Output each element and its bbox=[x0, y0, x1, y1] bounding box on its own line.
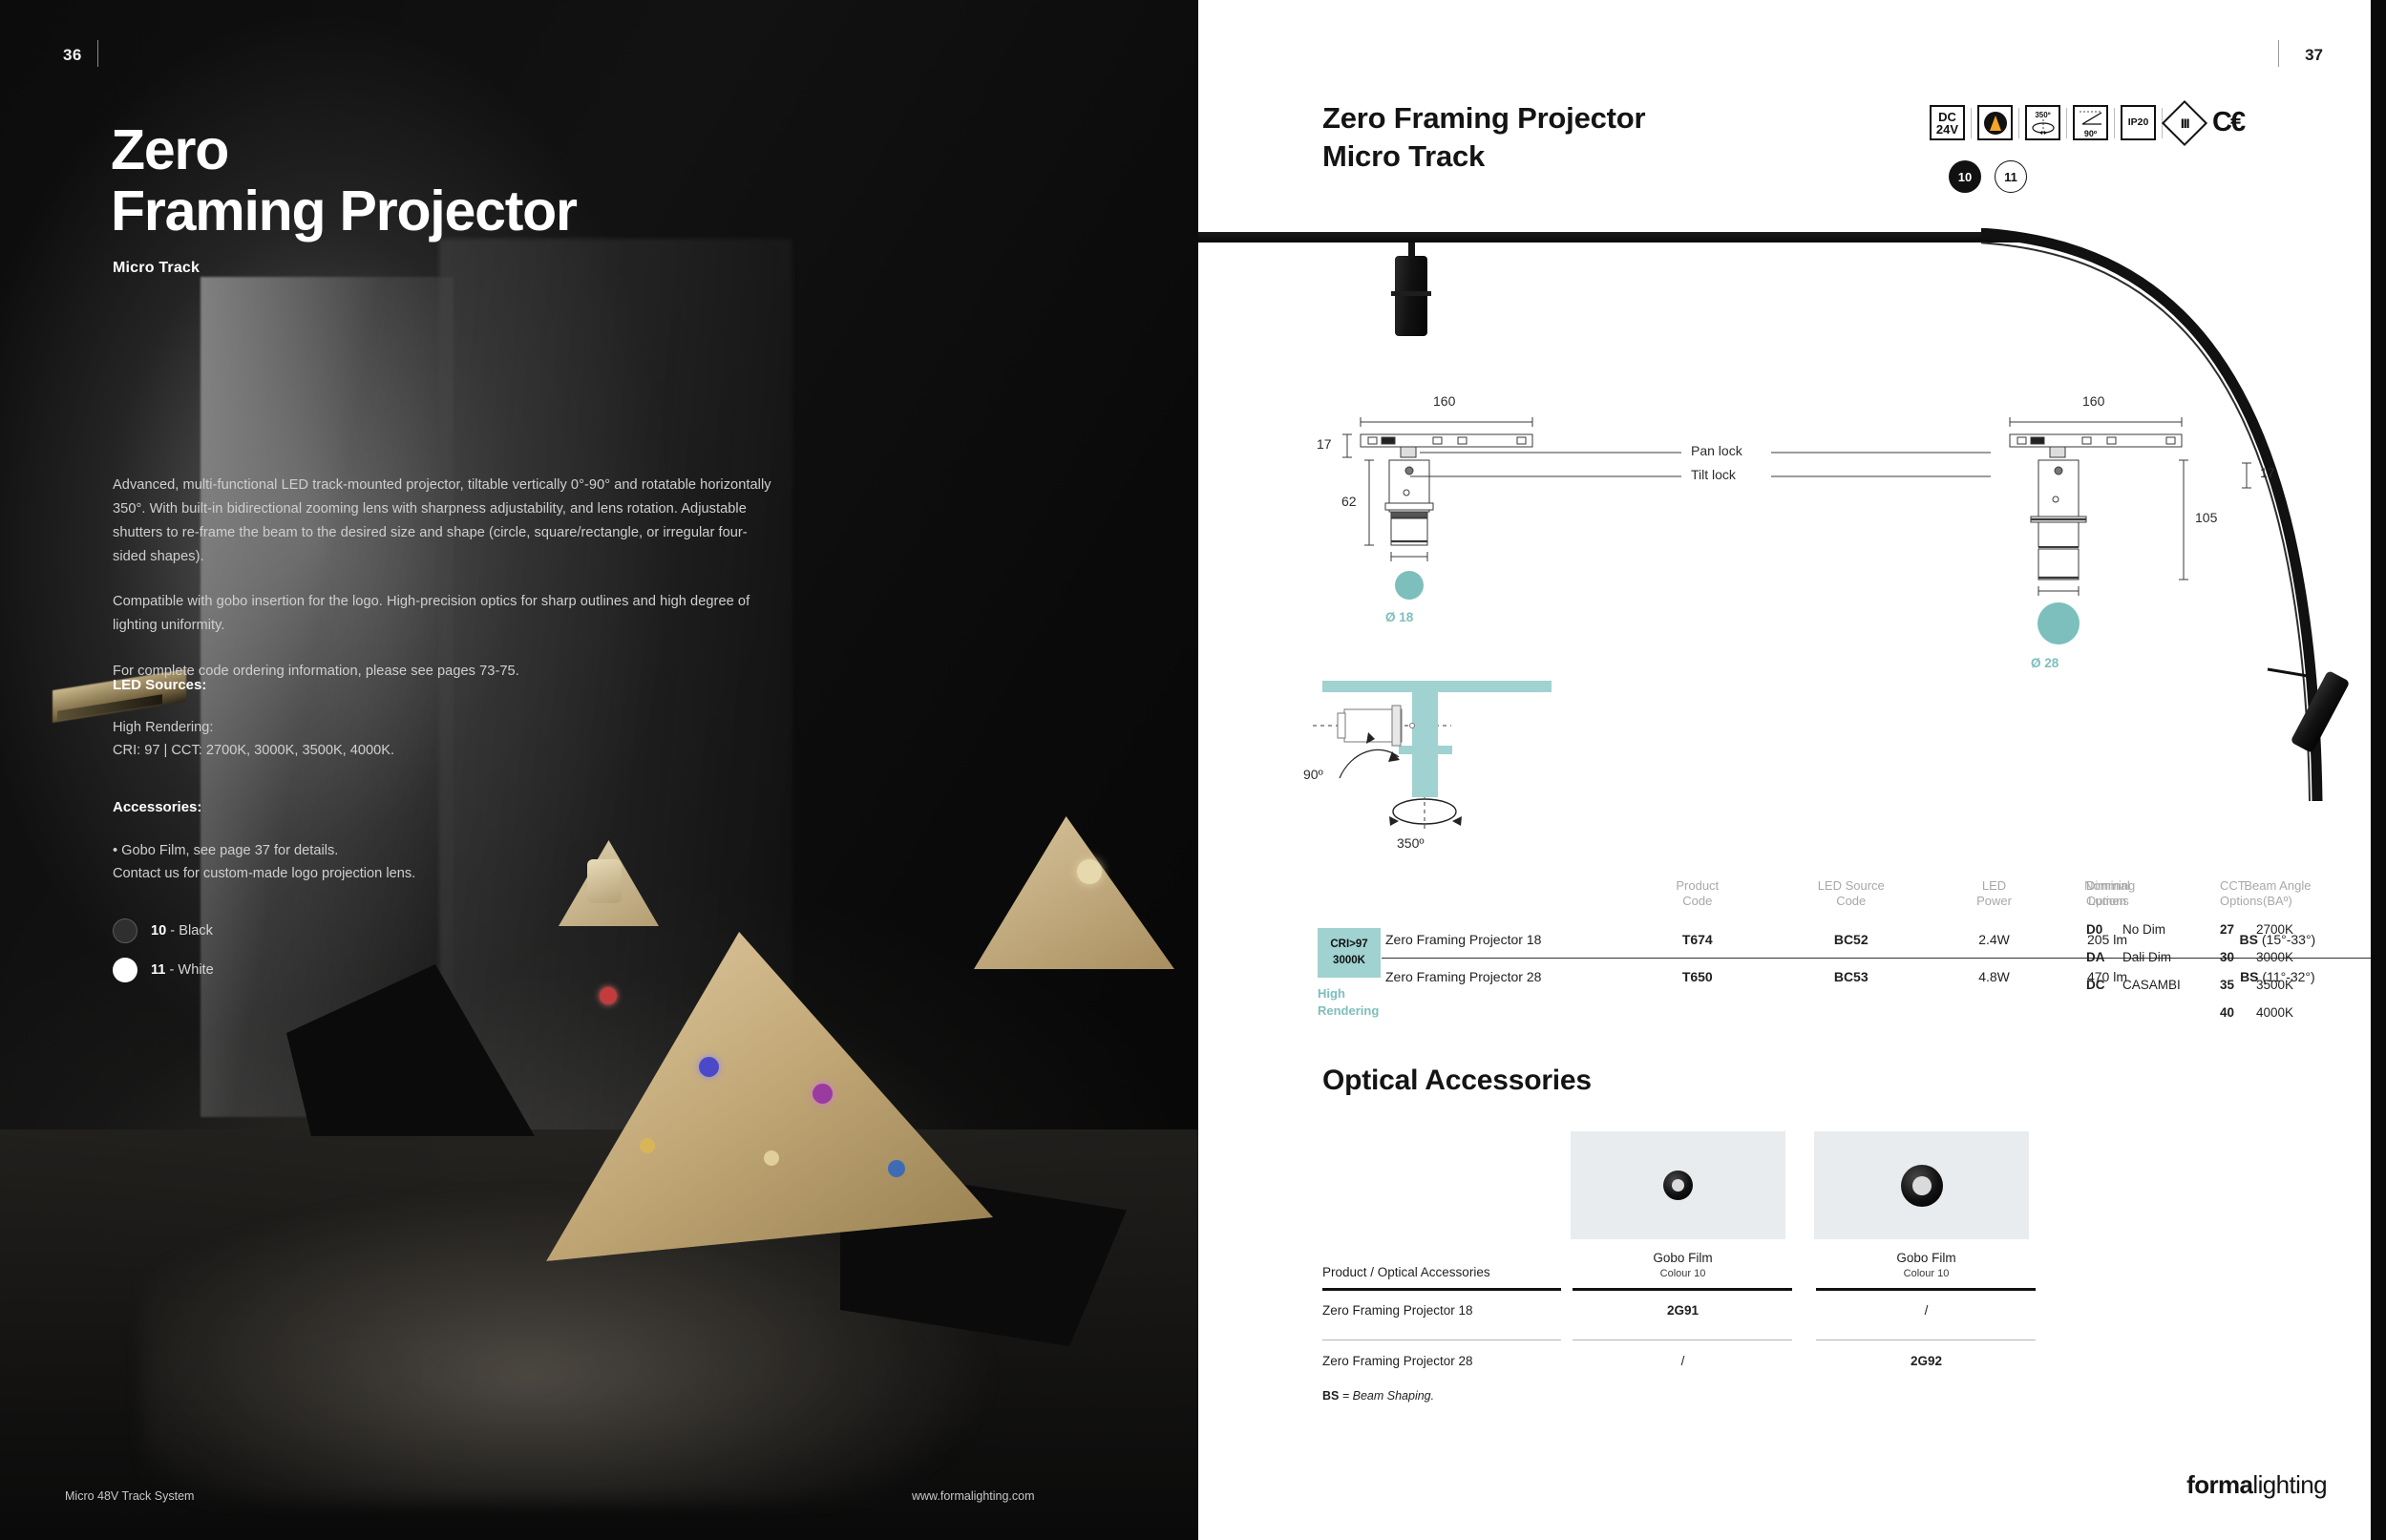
led-sources-heading: LED Sources: bbox=[113, 677, 206, 693]
cri-badge: CRI>97 3000K bbox=[1318, 928, 1381, 978]
cct-option-30: 30 3000K bbox=[2220, 950, 2293, 964]
brand-logo-lighting: lighting bbox=[2252, 1470, 2327, 1499]
flame-icon bbox=[1977, 105, 2013, 140]
cct-heading-l1: CCT bbox=[2220, 878, 2246, 893]
photo-luminaire-body bbox=[1395, 256, 1427, 336]
photo-luminaire-ring bbox=[1391, 291, 1431, 296]
dimming-options-heading: Dimming Options bbox=[2086, 878, 2181, 910]
swatch-dash-black: - bbox=[170, 923, 179, 939]
cct-code-30: 30 bbox=[2220, 950, 2256, 964]
photo-gem-purple bbox=[813, 1084, 833, 1104]
cct-label-27: 2700K bbox=[2256, 922, 2293, 937]
cct-label-35: 3500K bbox=[2256, 978, 2293, 992]
beam-shaping-text: = Beam Shaping. bbox=[1339, 1389, 1434, 1403]
accessories-heading: Accessories: bbox=[113, 799, 201, 815]
swatch-name-white: White bbox=[178, 962, 213, 978]
high-rendering-note: High Rendering bbox=[1318, 985, 1379, 1019]
cct-code-27: 27 bbox=[2220, 922, 2256, 937]
rule-col0 bbox=[1322, 1288, 1561, 1291]
photo-ring-object bbox=[1077, 859, 1102, 884]
cri-badge-line1: CRI>97 bbox=[1330, 937, 1367, 953]
page-title-line1: Zero bbox=[111, 118, 228, 181]
cct-options-block: CCT Options 27 2700K 30 3000K 35 3500K 4… bbox=[2220, 878, 2293, 1033]
optical-row2-c2: 2G92 bbox=[1805, 1354, 2048, 1368]
th-led-source-code-l2: Code bbox=[1836, 894, 1866, 908]
accessories-line-2: Contact us for custom-made logo projecti… bbox=[113, 866, 415, 881]
th-led-power-l2: Power bbox=[1976, 894, 2012, 908]
optical-header-row: Product / Optical Accessories Gobo Film … bbox=[1322, 1251, 2277, 1279]
photo-gem-blue bbox=[699, 1057, 719, 1077]
gobo-ring-icon-small bbox=[1663, 1171, 1693, 1200]
dim-left-height-top: 17 bbox=[1317, 436, 1332, 452]
th-product-code: Product Code bbox=[1637, 878, 1758, 921]
rotation-350-icon: 350º bbox=[2025, 105, 2060, 140]
label-rotation-angle: 350º bbox=[1397, 835, 1424, 851]
colour-chip-10: 10 bbox=[1949, 160, 1981, 193]
icon-divider-2 bbox=[2018, 108, 2019, 138]
technical-drawings: 160 17 62 Ø 18 160 17 105 Ø 28 Pan lock … bbox=[1198, 377, 2386, 874]
swatch-dot-white-icon bbox=[113, 958, 137, 982]
cct-code-40: 40 bbox=[2220, 1005, 2256, 1020]
cell-led-source-28: BC53 bbox=[1758, 958, 1945, 995]
brand-logo: formalighting bbox=[2186, 1470, 2327, 1500]
page-title-left: Zero Framing Projector bbox=[111, 120, 577, 242]
catalog-spread: 36 Zero Framing Projector Micro Track Ad… bbox=[0, 0, 2386, 1540]
dimming-label-d0: No Dim bbox=[2122, 922, 2165, 937]
dim-left-height-body: 62 bbox=[1341, 494, 1357, 509]
dc-24v-line2: 24V bbox=[1936, 123, 1958, 136]
swatch-code-white: 11 bbox=[151, 962, 165, 978]
rule-col1 bbox=[1573, 1288, 1792, 1291]
swatch-code-black: 10 bbox=[151, 923, 166, 939]
optical-col1-sub: Colour 10 bbox=[1561, 1268, 1805, 1279]
dimming-code-da: DA bbox=[2086, 950, 2122, 964]
dc-24v-icon: DC 24V bbox=[1930, 105, 1965, 140]
th-product-code-l2: Code bbox=[1682, 894, 1712, 908]
product-description: Advanced, multi-functional LED track-mou… bbox=[113, 474, 771, 684]
photo-luminaire-stem bbox=[1408, 243, 1415, 257]
page-title-right: Zero Framing Projector Micro Track bbox=[1322, 99, 1645, 175]
dim-right-width: 160 bbox=[2082, 393, 2104, 409]
th-product-code-l1: Product bbox=[1676, 878, 1719, 893]
label-tilt-lock: Tilt lock bbox=[1691, 467, 1736, 482]
colour-chip-row: 10 11 bbox=[1949, 160, 2027, 193]
page-number-left: 36 bbox=[63, 46, 82, 65]
ip20-icon: IP20 bbox=[2121, 105, 2156, 140]
led-sources-line-2: CRI: 97 | CCT: 2700K, 3000K, 3500K, 4000… bbox=[113, 743, 394, 758]
page-subtitle-left: Micro Track bbox=[113, 260, 200, 277]
class-2-icon: III bbox=[2162, 99, 2207, 145]
dimming-code-d0: D0 bbox=[2086, 922, 2122, 937]
cct-option-35: 35 3500K bbox=[2220, 978, 2293, 992]
cct-code-35: 35 bbox=[2220, 978, 2256, 992]
dimming-code-dc: DC bbox=[2086, 978, 2122, 992]
page-edge-strip bbox=[2371, 0, 2386, 1540]
th-product-name bbox=[1382, 878, 1637, 921]
label-pan-lock: Pan lock bbox=[1691, 443, 1742, 458]
photo-gem-sapphire bbox=[888, 1160, 905, 1177]
photo-gem-red bbox=[600, 987, 617, 1004]
th-led-source-code-l1: LED Source bbox=[1818, 878, 1885, 893]
tilt-90-icon: 90º bbox=[2073, 105, 2108, 140]
rule2-col0 bbox=[1322, 1340, 1561, 1341]
gobo-film-photo-18 bbox=[1571, 1131, 1785, 1239]
optical-row1-product: Zero Framing Projector 18 bbox=[1322, 1303, 1561, 1318]
cct-label-30: 3000K bbox=[2256, 950, 2293, 964]
label-tilt-angle: 90º bbox=[1303, 767, 1323, 782]
dimming-heading-l2: Options bbox=[2086, 894, 2129, 908]
left-page: 36 Zero Framing Projector Micro Track Ad… bbox=[0, 0, 1198, 1540]
description-paragraph-2: Compatible with gobo insertion for the l… bbox=[113, 590, 771, 638]
cri-badge-line2: 3000K bbox=[1333, 953, 1365, 969]
page-title-right-line2: Micro Track bbox=[1322, 139, 1485, 173]
gobo-film-photo-28 bbox=[1814, 1131, 2029, 1239]
beam-shaping-note: BS = Beam Shaping. bbox=[1322, 1389, 1434, 1403]
dimming-label-da: Dali Dim bbox=[2122, 950, 2171, 964]
swatch-dot-black-icon bbox=[113, 918, 137, 943]
optical-col1-header: Gobo Film Colour 10 bbox=[1561, 1251, 1805, 1279]
rule2-col1 bbox=[1573, 1340, 1792, 1341]
dimming-option-da: DA Dali Dim bbox=[2086, 950, 2181, 964]
cct-option-40: 40 4000K bbox=[2220, 1005, 2293, 1020]
rule-col2 bbox=[1816, 1288, 2036, 1291]
cell-product-18: Zero Framing Projector 18 bbox=[1382, 921, 1637, 959]
beam-shaping-abbr: BS bbox=[1322, 1389, 1339, 1403]
accessories-line-1: • Gobo Film, see page 37 for details. bbox=[113, 843, 338, 858]
cct-heading-l2: Options bbox=[2220, 894, 2263, 908]
high-rendering-line1: High bbox=[1318, 985, 1379, 1002]
dimming-label-dc: CASAMBI bbox=[2122, 978, 2181, 992]
rotation-350-glyph bbox=[2031, 119, 2056, 135]
optical-row2-c1: / bbox=[1561, 1354, 1805, 1368]
dim-left-diameter: Ø 18 bbox=[1385, 610, 1413, 624]
optical-col2-sub: Colour 10 bbox=[1805, 1268, 2048, 1279]
cct-option-27: 27 2700K bbox=[2220, 922, 2293, 937]
high-rendering-line2: Rendering bbox=[1318, 1002, 1379, 1020]
ce-mark-icon: C€ bbox=[2212, 107, 2244, 138]
flame-icon-glyph bbox=[1984, 112, 2007, 135]
photo-gem-gold-2 bbox=[764, 1150, 779, 1166]
colour-swatch-black: 10 - Black bbox=[113, 918, 213, 943]
optical-col0-header: Product / Optical Accessories bbox=[1322, 1265, 1561, 1279]
dimming-option-d0: D0 No Dim bbox=[2086, 922, 2181, 937]
right-page: 37 Zero Framing Projector Micro Track DC… bbox=[1198, 0, 2386, 1540]
list-item: Zero Framing Projector 18 2G91 / bbox=[1322, 1291, 2277, 1331]
tilt-90-glyph bbox=[2077, 107, 2105, 130]
swatch-name-black: Black bbox=[179, 923, 213, 939]
dc-24v-line1: DC bbox=[1938, 111, 1956, 123]
tilt-90-label: 90º bbox=[2084, 130, 2097, 138]
dimming-heading-l1: Dimming bbox=[2086, 878, 2135, 893]
cell-product-code-18: T674 bbox=[1637, 921, 1758, 959]
optical-col2-header: Gobo Film Colour 10 bbox=[1805, 1251, 2048, 1279]
page-number-right: 37 bbox=[2305, 46, 2323, 65]
description-paragraph-3: For complete code ordering information, … bbox=[113, 660, 771, 684]
optical-col2-title: Gobo Film bbox=[1896, 1251, 1955, 1265]
optical-accessories-table: Product / Optical Accessories Gobo Film … bbox=[1322, 1251, 2277, 1381]
cell-led-source-18: BC52 bbox=[1758, 921, 1945, 959]
page-title-line2: Framing Projector bbox=[111, 179, 577, 243]
optical-row1-c1: 2G91 bbox=[1561, 1303, 1805, 1318]
optical-col1-title: Gobo Film bbox=[1653, 1251, 1712, 1265]
dim-left-width: 160 bbox=[1433, 393, 1455, 409]
colour-chip-11: 11 bbox=[1995, 160, 2027, 193]
list-item: Zero Framing Projector 28 / 2G92 bbox=[1322, 1340, 2277, 1381]
th-led-source-code: LED Source Code bbox=[1758, 878, 1945, 921]
cell-led-power-28: 4.8W bbox=[1945, 958, 2043, 995]
page-number-divider-right bbox=[2278, 40, 2279, 67]
cell-product-code-28: T650 bbox=[1637, 958, 1758, 995]
swatch-label-black: 10 - Black bbox=[151, 923, 213, 939]
dim-right-height-body: 105 bbox=[2195, 510, 2217, 525]
dim-right-diameter: Ø 28 bbox=[2031, 656, 2059, 670]
icon-divider-4 bbox=[2114, 108, 2115, 138]
swatch-label-white: 11 - White bbox=[151, 962, 214, 978]
photo-gem-gold-1 bbox=[640, 1138, 655, 1153]
th-led-power-l1: LED bbox=[1982, 878, 2006, 893]
optical-accessories-title: Optical Accessories bbox=[1322, 1065, 1592, 1097]
dimming-option-dc: DC CASAMBI bbox=[2086, 978, 2181, 992]
spec-icon-row: DC 24V 350º bbox=[1930, 105, 2244, 140]
photo-watch-object bbox=[587, 859, 622, 903]
description-paragraph-1: Advanced, multi-functional LED track-mou… bbox=[113, 474, 771, 569]
page-title-right-line1: Zero Framing Projector bbox=[1322, 101, 1645, 135]
accessories-body: • Gobo Film, see page 37 for details. Co… bbox=[113, 840, 415, 885]
cct-options-heading: CCT Options bbox=[2220, 878, 2293, 910]
th-led-power: LED Power bbox=[1945, 878, 2043, 921]
page-number-divider-left bbox=[97, 40, 98, 67]
optical-row2-product: Zero Framing Projector 28 bbox=[1322, 1354, 1561, 1368]
footer-system-name: Micro 48V Track System bbox=[65, 1489, 194, 1503]
cell-product-28: Zero Framing Projector 28 bbox=[1382, 958, 1637, 995]
ip20-label: IP20 bbox=[2128, 117, 2149, 128]
gobo-ring-icon-big bbox=[1901, 1165, 1943, 1207]
technical-drawing-svg bbox=[1198, 377, 2386, 874]
icon-divider-1 bbox=[1971, 108, 1972, 138]
class-2-label: III bbox=[2181, 115, 2189, 130]
colour-swatch-white: 11 - White bbox=[113, 958, 214, 982]
cell-led-power-18: 2.4W bbox=[1945, 921, 2043, 959]
led-sources-body: High Rendering: CRI: 97 | CCT: 2700K, 30… bbox=[113, 717, 394, 762]
footer-website: www.formalighting.com bbox=[912, 1489, 1035, 1503]
photo-track-rail bbox=[1198, 232, 2019, 243]
optical-row1-c2: / bbox=[1805, 1303, 2048, 1318]
icon-divider-3 bbox=[2066, 108, 2067, 138]
dimming-options-block: Dimming Options D0 No Dim DA Dali Dim DC… bbox=[2086, 878, 2181, 1005]
dim-right-height-top: 17 bbox=[2260, 465, 2275, 480]
rotation-350-label: 350º bbox=[2035, 112, 2050, 119]
rule2-col2 bbox=[1816, 1340, 2036, 1341]
led-sources-line-1: High Rendering: bbox=[113, 720, 213, 735]
cct-label-40: 4000K bbox=[2256, 1005, 2293, 1020]
brand-logo-forma: forma bbox=[2186, 1470, 2252, 1499]
